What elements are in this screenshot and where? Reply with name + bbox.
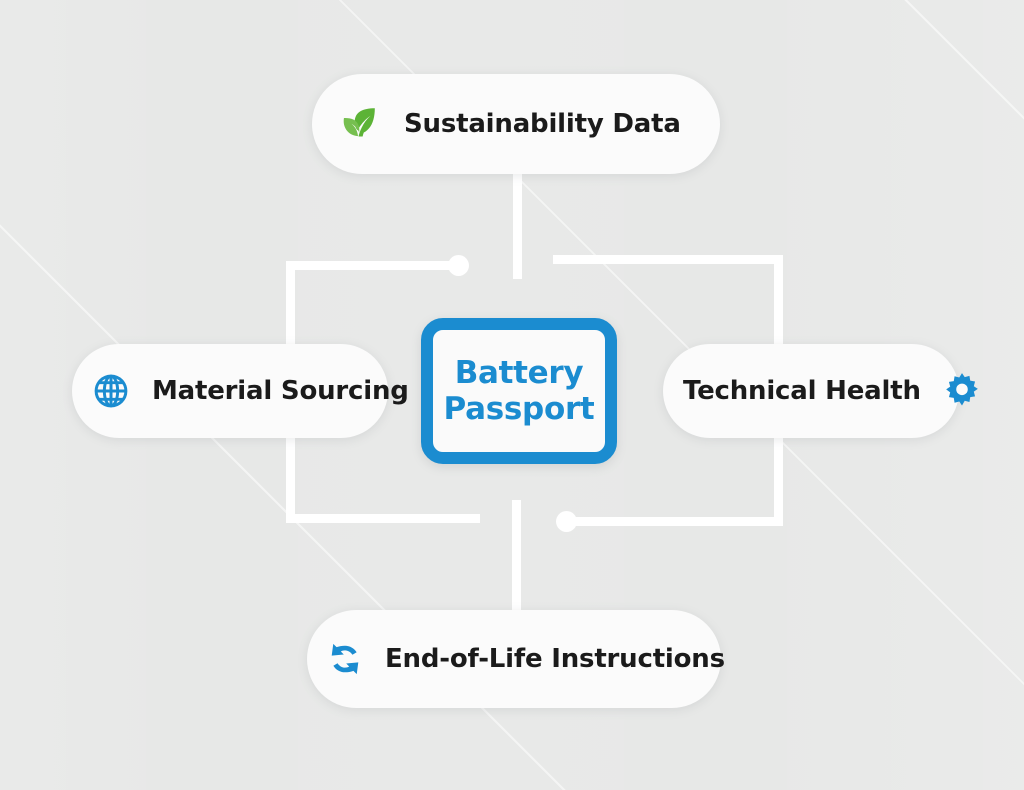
center-title-line1: Battery — [455, 355, 584, 391]
node-label: End-of-Life Instructions — [385, 644, 725, 674]
recycle-icon — [323, 637, 367, 681]
node-technical-health[interactable]: Technical Health — [663, 344, 959, 438]
gear-icon — [941, 370, 983, 412]
leaf-icon — [336, 101, 382, 147]
node-label: Sustainability Data — [404, 109, 681, 139]
diagram-canvas: Sustainability Data Material Sourcing Te… — [0, 0, 1024, 790]
connector-top-left-dot — [448, 255, 469, 276]
connector-bottom-right-horizontal — [566, 517, 783, 526]
node-battery-passport-center[interactable]: Battery Passport — [421, 318, 617, 464]
connector-top-right-horizontal — [553, 255, 783, 264]
node-sustainability-data[interactable]: Sustainability Data — [312, 74, 720, 174]
globe-icon — [90, 370, 132, 412]
node-label: Technical Health — [683, 376, 921, 406]
node-material-sourcing[interactable]: Material Sourcing — [72, 344, 388, 438]
center-title-line2: Passport — [444, 391, 595, 427]
connector-top-vertical — [513, 172, 522, 279]
node-end-of-life-instructions[interactable]: End-of-Life Instructions — [307, 610, 721, 708]
node-label: Material Sourcing — [152, 376, 409, 406]
connector-top-left-horizontal — [286, 261, 459, 270]
connector-bottom-left-horizontal — [286, 514, 480, 523]
connector-bottom-vertical — [512, 500, 521, 611]
